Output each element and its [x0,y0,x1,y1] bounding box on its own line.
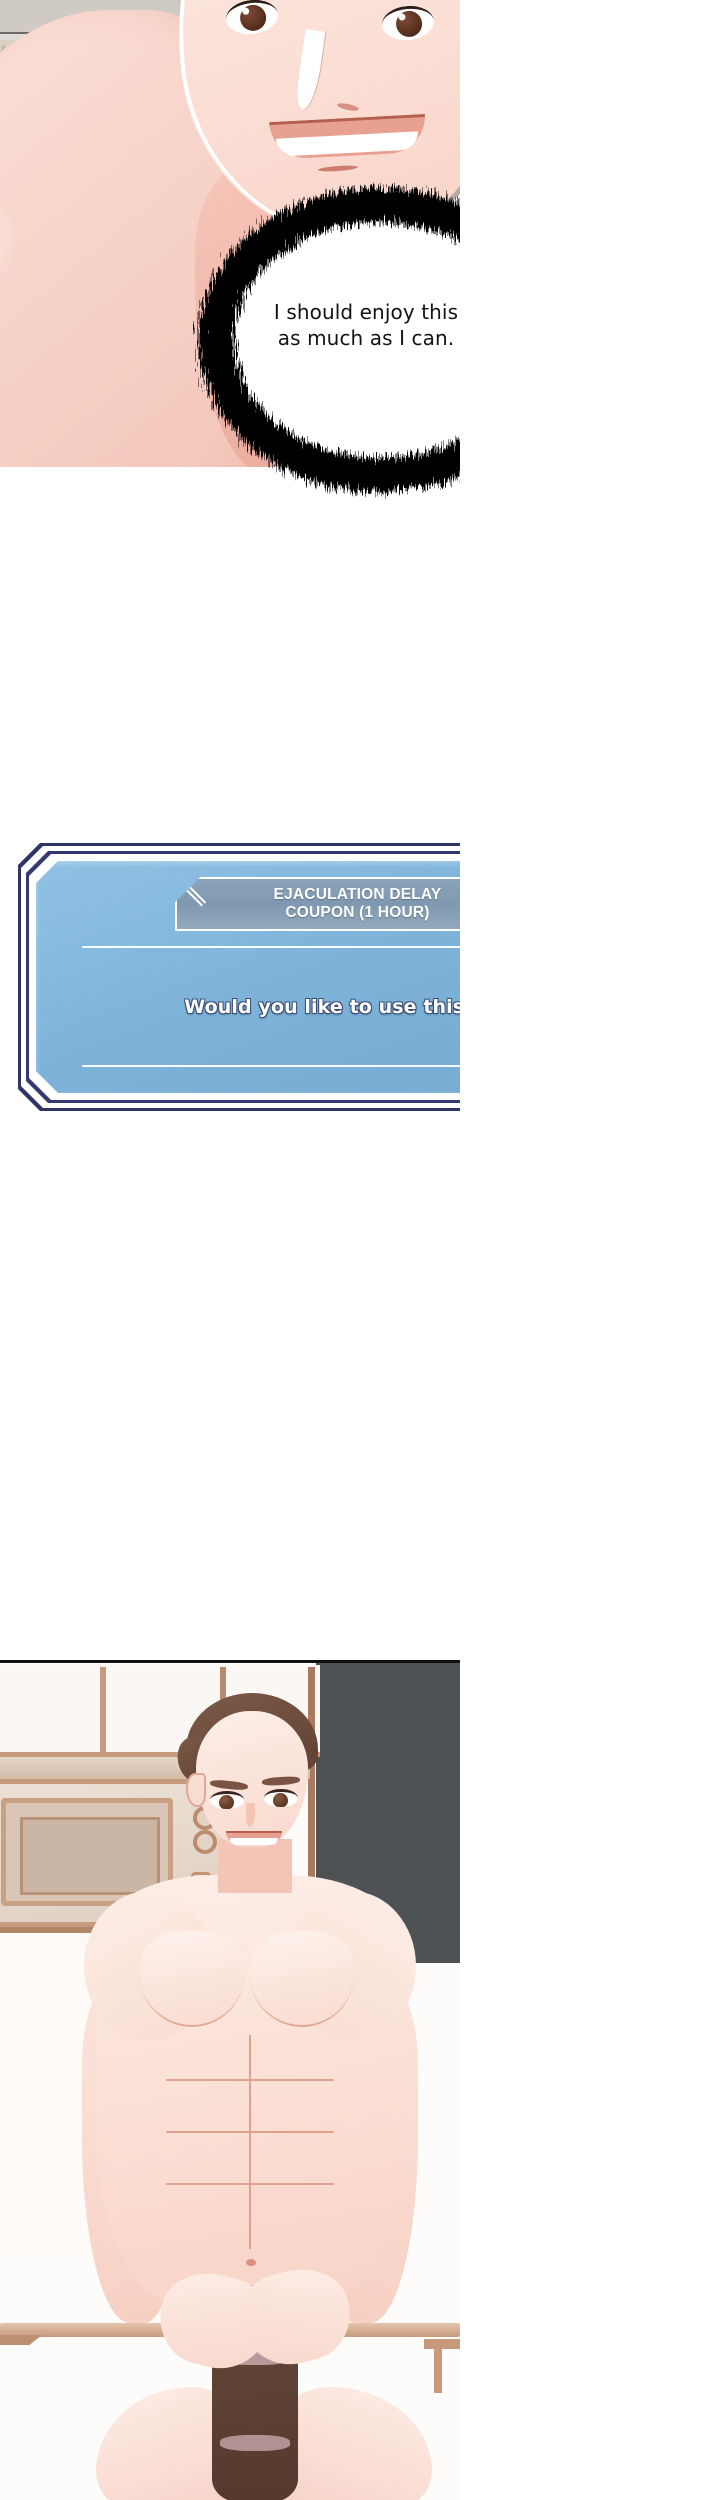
character-eye-right [264,1789,298,1807]
banner-slash-left-2 [163,881,205,923]
microwave-window [20,1817,160,1895]
microwave-knob-lower [193,1830,217,1854]
cabinet-divider-1 [100,1667,106,1757]
abs-line-2 [166,2131,334,2133]
abs-line-3 [166,2183,334,2185]
panel-bottom [0,1660,460,2500]
left-pupil [239,3,268,32]
panel-top [0,0,460,467]
abs-line-1 [166,2079,334,2081]
character-navel [246,2259,256,2266]
wall-shelf-right-post [434,2349,442,2393]
wall-shelf-right [424,2339,460,2349]
character-abs [166,2035,334,2249]
page-right-margin [460,0,720,2500]
character-eye-left [210,1791,244,1809]
character-mouth [226,1831,282,1845]
dark-object-highlight-lower [220,2435,290,2451]
right-pupil [395,10,423,38]
coupon-title-text: EJACULATION DELAY COUPON (1 HOUR) [266,883,450,926]
shoulder-highlight [0,190,20,310]
character-neck-lower [218,1839,292,1893]
abs-midline [249,2035,251,2249]
character-ear [186,1773,206,1807]
speech-bubble-text: I should enjoy this as much as I can. [236,300,496,351]
webtoon-page: I should enjoy this as much as I can. EJ… [0,0,720,2500]
